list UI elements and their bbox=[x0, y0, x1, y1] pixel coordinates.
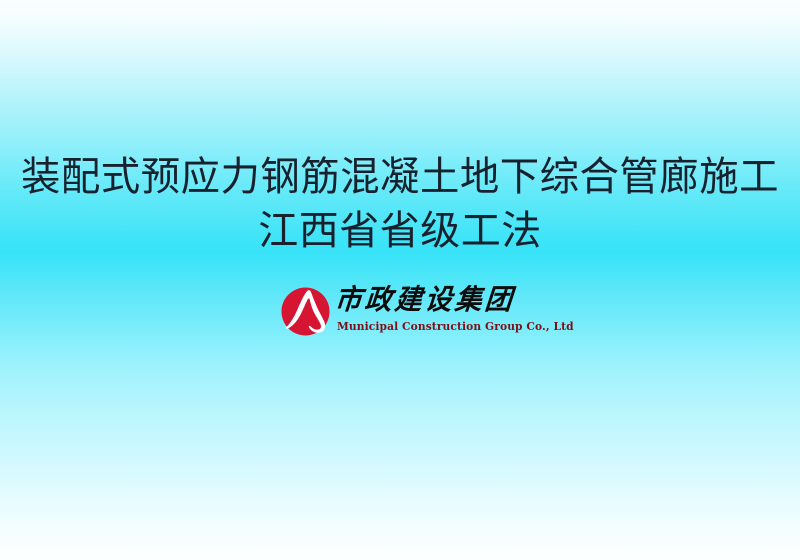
company-name-cn: 市政建设集团 bbox=[334, 286, 516, 314]
slide-title-line-1: 装配式预应力钢筋混凝土地下综合管廊施工 bbox=[6, 157, 794, 197]
slide-title-line-2: 江西省省级工法 bbox=[0, 211, 800, 251]
title-slide: 装配式预应力钢筋混凝土地下综合管廊施工 江西省省级工法 市政建设集团 Munic… bbox=[0, 0, 800, 560]
company-arch-emblem-icon bbox=[281, 287, 330, 336]
company-logo: 市政建设集团 Municipal Construction Group Co.,… bbox=[281, 285, 531, 343]
company-name-en: Municipal Construction Group Co., Ltd bbox=[337, 321, 574, 332]
company-logo-text: 市政建设集团 Municipal Construction Group Co.,… bbox=[335, 285, 531, 343]
slide-title-block: 装配式预应力钢筋混凝土地下综合管廊施工 江西省省级工法 bbox=[0, 157, 800, 251]
